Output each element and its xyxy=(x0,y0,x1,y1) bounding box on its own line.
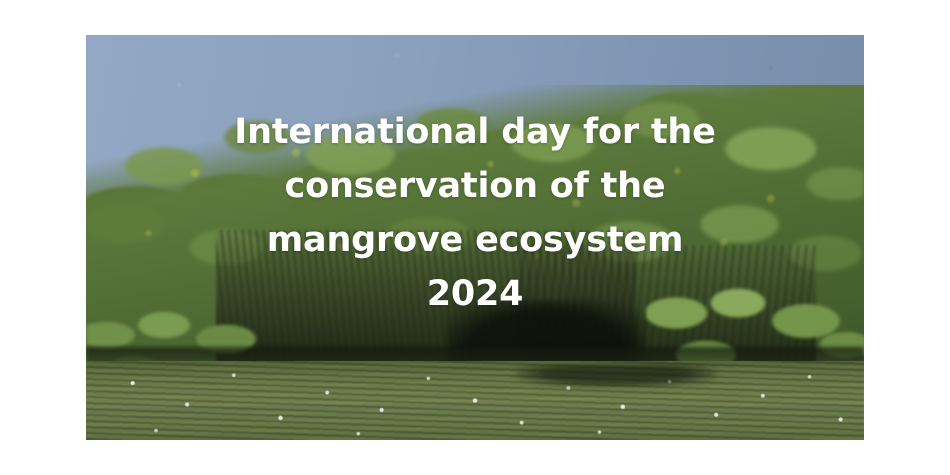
water-reflection-patch xyxy=(516,365,716,387)
water-lilypad-surface xyxy=(86,361,864,440)
poster-canvas: International day for the conservation o… xyxy=(0,0,950,475)
mangrove-photo xyxy=(86,35,864,440)
